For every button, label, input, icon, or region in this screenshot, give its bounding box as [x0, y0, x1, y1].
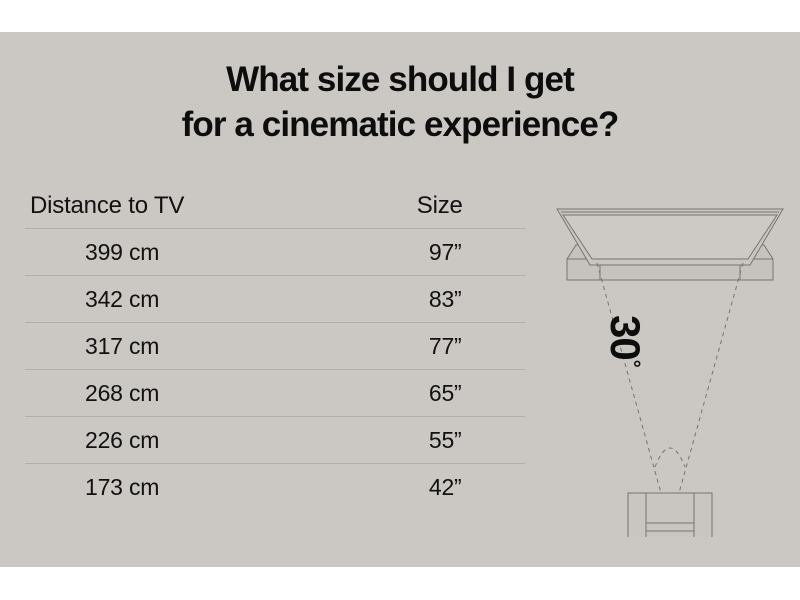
- page-title: What size should I get for a cinematic e…: [0, 58, 800, 148]
- title-line-2: for a cinematic experience?: [0, 103, 800, 148]
- infographic-canvas: What size should I get for a cinematic e…: [0, 32, 800, 567]
- table-row: 268 cm 65”: [25, 369, 525, 416]
- cell-size: 77”: [426, 333, 525, 360]
- table-row: 226 cm 55”: [25, 416, 525, 463]
- table-row: 173 cm 42”: [25, 463, 525, 510]
- cell-size: 55”: [426, 427, 525, 454]
- cell-size: 97”: [426, 239, 525, 266]
- table-row: 317 cm 77”: [25, 322, 525, 369]
- viewing-angle-lines: [597, 263, 743, 493]
- cell-distance: 342 cm: [25, 286, 426, 313]
- cell-distance: 268 cm: [25, 380, 426, 407]
- cell-size: 83”: [426, 286, 525, 313]
- tv-panel-icon: [557, 209, 783, 265]
- degree-symbol: °: [621, 360, 643, 367]
- cell-distance: 173 cm: [25, 474, 426, 501]
- angle-value: 30: [602, 315, 649, 360]
- title-line-1: What size should I get: [0, 58, 800, 103]
- cell-distance: 317 cm: [25, 333, 426, 360]
- viewing-angle-line-right: [679, 263, 743, 493]
- cell-size: 42”: [426, 474, 525, 501]
- column-header-distance: Distance to TV: [25, 192, 414, 220]
- angle-arc: [655, 448, 685, 467]
- viewing-angle-label: 30°: [601, 315, 649, 367]
- table-header-row: Distance to TV Size: [25, 184, 525, 228]
- size-recommendation-table: Distance to TV Size 399 cm 97” 342 cm 83…: [25, 184, 525, 510]
- diagram-svg: [545, 197, 795, 537]
- sofa-icon: [628, 493, 712, 537]
- viewing-angle-diagram: 30°: [545, 197, 795, 537]
- cell-distance: 226 cm: [25, 427, 426, 454]
- cell-distance: 399 cm: [25, 239, 426, 266]
- table-row: 399 cm 97”: [25, 228, 525, 275]
- table-row: 342 cm 83”: [25, 275, 525, 322]
- column-header-size: Size: [414, 192, 525, 220]
- viewing-angle-line-left: [597, 263, 661, 493]
- cell-size: 65”: [426, 380, 525, 407]
